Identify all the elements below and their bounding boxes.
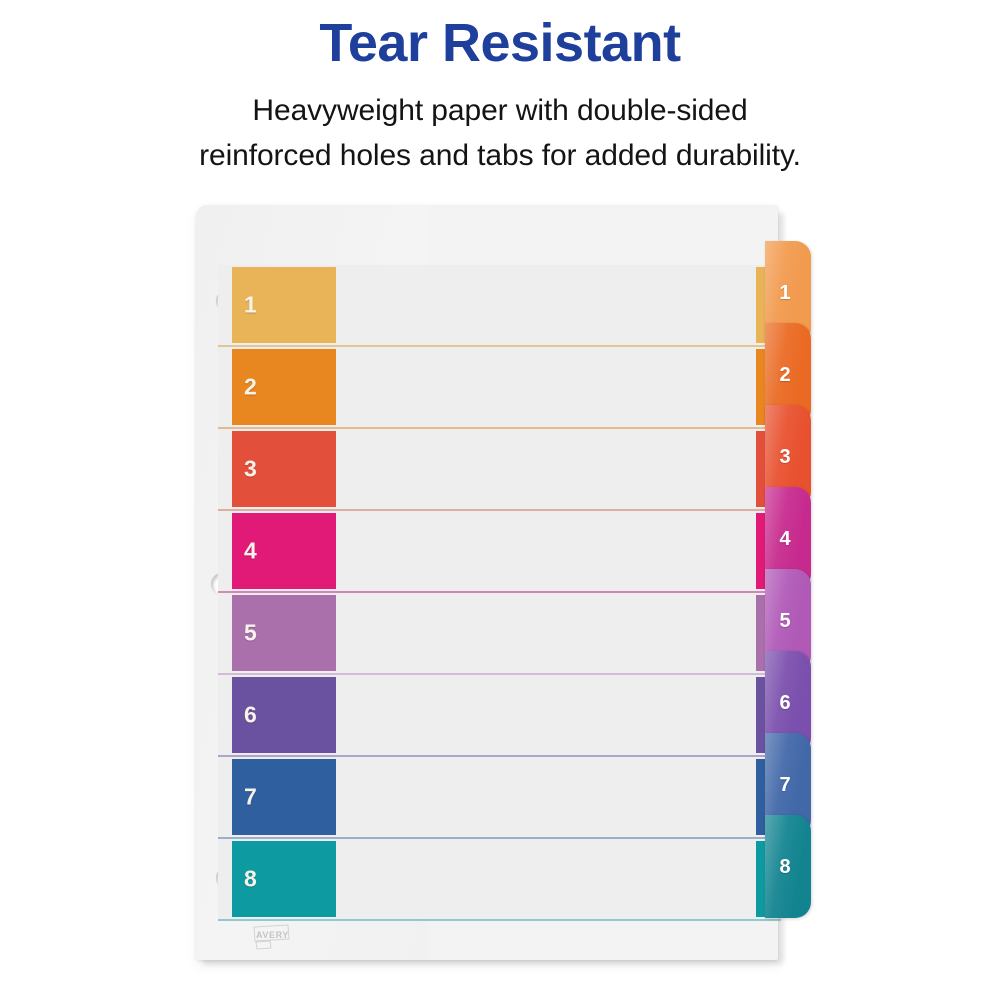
row-number: 3: [244, 458, 257, 481]
divider-row: 7: [196, 757, 778, 839]
index-tab-number: 2: [765, 365, 805, 385]
row-color-chip: 7: [232, 759, 336, 835]
page-subtitle: Heavyweight paper with double-sided rein…: [0, 76, 1000, 179]
avery-logo: AVERY: [248, 923, 318, 951]
svg-text:AVERY: AVERY: [256, 930, 289, 940]
row-rule: [218, 919, 781, 921]
row-number: 4: [244, 540, 257, 563]
divider-row: 3: [196, 429, 778, 511]
index-tab-number: 6: [765, 693, 805, 713]
index-tab-number: 7: [765, 775, 805, 795]
row-color-chip: 3: [232, 431, 336, 507]
product-image-canvas: Tear Resistant Heavyweight paper with do…: [0, 0, 1000, 1000]
row-number: 6: [244, 704, 257, 727]
row-color-chip: 4: [232, 513, 336, 589]
row-number: 7: [244, 786, 257, 809]
divider-rows: 1 2 3: [196, 265, 778, 921]
index-tab-number: 1: [765, 283, 805, 303]
page-subtitle-line-1: Heavyweight paper with double-sided: [0, 88, 1000, 134]
index-tab-number: 3: [765, 447, 805, 467]
row-number: 8: [244, 868, 257, 891]
row-color-chip: 8: [232, 841, 336, 917]
index-tab-number: 4: [765, 529, 805, 549]
page-subtitle-line-2: reinforced holes and tabs for added dura…: [0, 133, 1000, 179]
row-color-chip: 6: [232, 677, 336, 753]
row-number: 1: [244, 294, 257, 317]
index-tab-number: 5: [765, 611, 805, 631]
divider-row: 1: [196, 265, 778, 347]
divider-set-illustration: AVERY 1 2: [196, 205, 816, 973]
divider-row: 2: [196, 347, 778, 429]
index-tabs: 1 2 3 4 5 6 7 8: [765, 241, 825, 941]
index-tab: 8: [765, 815, 811, 918]
row-number: 5: [244, 622, 257, 645]
row-number: 2: [244, 376, 257, 399]
row-color-chip: 5: [232, 595, 336, 671]
headline-block: Tear Resistant Heavyweight paper with do…: [0, 0, 1000, 179]
divider-row: 5: [196, 593, 778, 675]
divider-row: 4: [196, 511, 778, 593]
row-color-chip: 2: [232, 349, 336, 425]
index-tab-number: 8: [765, 857, 805, 877]
divider-sheet: AVERY 1 2: [196, 205, 778, 960]
row-color-chip: 1: [232, 267, 336, 343]
divider-row: 6: [196, 675, 778, 757]
divider-row: 8: [196, 839, 778, 921]
page-title: Tear Resistant: [0, 0, 1000, 76]
